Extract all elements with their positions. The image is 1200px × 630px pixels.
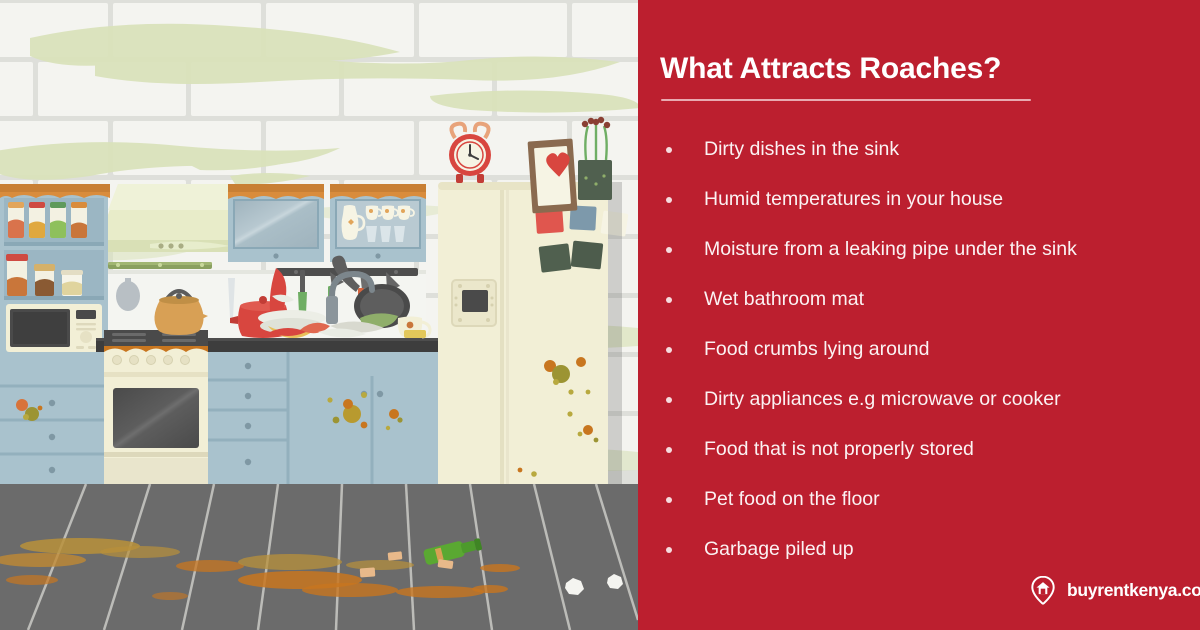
list-item: Dirty appliances e.g microwave or cooker <box>660 375 1195 425</box>
list-item-label: Wet bathroom mat <box>704 288 864 311</box>
list-item-label: Dirty appliances e.g microwave or cooker <box>704 388 1061 411</box>
wall-shelf-bar <box>108 262 212 269</box>
list-item: Humid temperatures in your house <box>660 175 1195 225</box>
list-item-label: Humid temperatures in your house <box>704 188 1003 211</box>
info-panel: What Attracts Roaches? Dirty dishes in t… <box>638 0 1200 630</box>
bullet-icon <box>666 197 672 203</box>
list-item-label: Pet food on the floor <box>704 488 880 511</box>
bullet-icon <box>666 397 672 403</box>
brand-logo[interactable]: buyrentkenya.com <box>1028 575 1200 605</box>
list-item-label: Moisture from a leaking pipe under the s… <box>704 238 1077 261</box>
list-item-label: Dirty dishes in the sink <box>704 138 899 161</box>
upper-shelf-unit <box>0 184 110 352</box>
list-item: Food that is not properly stored <box>660 425 1195 475</box>
title-divider <box>661 99 1031 101</box>
bullet-icon <box>666 447 672 453</box>
list-item: Moisture from a leaking pipe under the s… <box>660 225 1195 275</box>
bullet-icon <box>666 297 672 303</box>
lower-cabinets <box>0 352 438 484</box>
list-item: Dirty dishes in the sink <box>660 125 1195 175</box>
heart-picture-frame <box>528 138 578 213</box>
dirty-kitchen-illustration <box>0 0 638 630</box>
page-title: What Attracts Roaches? <box>660 52 1180 85</box>
list-item: Wet bathroom mat <box>660 275 1195 325</box>
stove-oven <box>104 330 208 484</box>
refrigerator <box>438 182 628 484</box>
infographic-canvas: What Attracts Roaches? Dirty dishes in t… <box>0 0 1200 630</box>
list-item-label: Food that is not properly stored <box>704 438 974 461</box>
glass-cabinet-dishes <box>330 184 426 262</box>
bullet-icon <box>666 347 672 353</box>
microwave <box>6 304 102 352</box>
bullet-icon <box>666 147 672 153</box>
list-item-label: Garbage piled up <box>704 538 854 561</box>
bullet-icon <box>666 247 672 253</box>
bullet-icon <box>666 547 672 553</box>
list-item: Food crumbs lying around <box>660 325 1195 375</box>
map-pin-house-icon <box>1028 575 1058 605</box>
bullet-icon <box>666 497 672 503</box>
glass-cabinet-left <box>228 184 324 262</box>
list-item-label: Food crumbs lying around <box>704 338 929 361</box>
list-item: Pet food on the floor <box>660 475 1195 525</box>
brand-logo-text: buyrentkenya.com <box>1067 580 1200 601</box>
list-item: Garbage piled up <box>660 525 1195 575</box>
attractants-list: Dirty dishes in the sink Humid temperatu… <box>660 125 1195 575</box>
wooden-floor <box>0 484 638 630</box>
